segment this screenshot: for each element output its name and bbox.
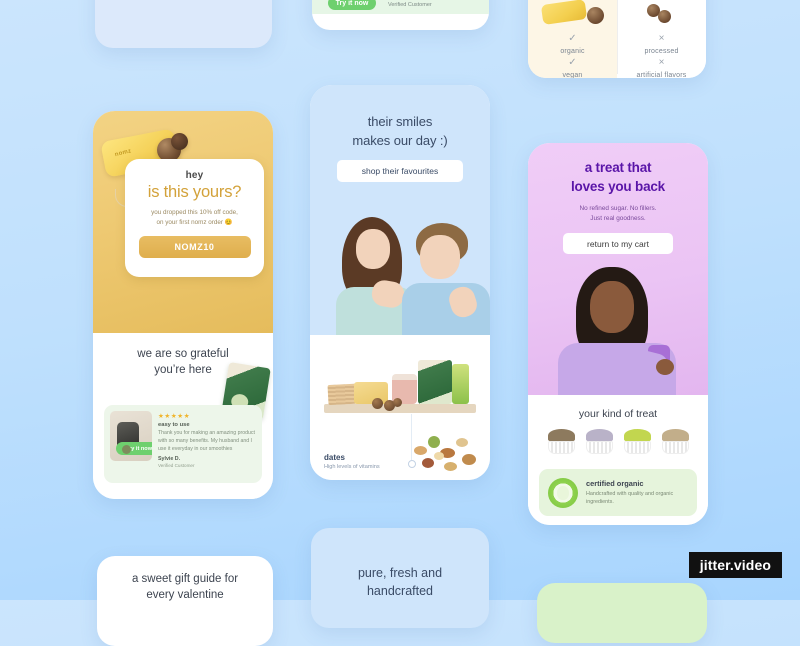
coupon-subtext: you dropped this 10% off code, on your f… [135, 208, 254, 228]
cross-icon: × [617, 34, 706, 44]
promo-code-button[interactable]: NOMZ10 [139, 236, 251, 258]
review-thumbnail: Try it now [110, 411, 152, 461]
cart-lower: your kind of treat [528, 395, 708, 525]
woman-face [590, 281, 634, 333]
cart-hero: a treat that loves you back No refined s… [528, 143, 708, 395]
treat-base-4 [662, 441, 689, 454]
review-card[interactable]: Try it now ★★★★★ easy to use Thank you f… [104, 405, 262, 483]
treat-cup-2[interactable] [586, 429, 613, 454]
card-green-teaser[interactable] [537, 583, 707, 643]
woman-hand [656, 359, 674, 375]
processed-snack-image [645, 4, 679, 26]
ingredient-subtitle: High levels of vitamins [324, 464, 380, 470]
card-kids[interactable]: their smiles makes our day :) shop their… [310, 85, 490, 480]
review-heading: easy to use [158, 422, 256, 428]
check-circle-icon-2: ✓ [528, 58, 617, 68]
shop-favourites-button[interactable]: shop their favourites [337, 160, 463, 182]
review-author: Sylvie D. [158, 456, 256, 462]
product-bar-image [542, 0, 604, 24]
coupon-lower: we are so grateful you’re here Try it no… [93, 333, 273, 499]
kids-photo [310, 213, 490, 335]
treat-cup-3[interactable] [624, 429, 651, 454]
woman-photo [552, 267, 684, 395]
card-pure-fresh[interactable]: pure, fresh and handcrafted [311, 528, 489, 628]
card-cart-reminder[interactable]: a treat that loves you back No refined s… [528, 143, 708, 525]
treat-cup-4[interactable] [662, 429, 689, 454]
check-circle-icon: ✓ [528, 34, 617, 44]
truffle-cluster [372, 398, 402, 411]
gift-guide-title: a sweet gift guide for every valentine [97, 556, 273, 603]
card-comparison[interactable]: ✓ organic × processed ✓ vegan × artifici… [528, 0, 706, 78]
try-it-now-button-top[interactable]: Try it now [328, 0, 376, 10]
star-rating-icon: ★★★★★ [158, 412, 256, 420]
truffle-icon-large-2 [171, 133, 188, 150]
treat-base-2 [586, 441, 613, 454]
ingredient-title: dates [324, 453, 380, 462]
treat-base-3 [624, 441, 651, 454]
smoothie-glass-icon [452, 364, 469, 404]
treat-base-1 [548, 441, 575, 454]
review-verified-label: Verified Customer [158, 463, 256, 468]
compare-item-processed: × processed [617, 34, 706, 55]
return-to-cart-button[interactable]: return to my cart [563, 233, 673, 254]
organic-seal-icon [548, 478, 578, 508]
cross-icon-2: × [617, 58, 706, 68]
cart-subtext: No refined sugar. No fillers. Just real … [528, 204, 708, 225]
coupon-box: hey is this yours? you dropped this 10% … [125, 159, 264, 277]
snack-bar-icon [540, 0, 586, 25]
certified-organic-badge: certified organic Handcrafted with quali… [539, 469, 697, 516]
coupon-hero: nomz hey is this yours? you dropped this… [93, 111, 273, 333]
ingredient-caption: dates High levels of vitamins [324, 453, 380, 470]
treat-cups-row [528, 420, 708, 454]
card-review-teaser[interactable]: Try it now Verified Customer [312, 0, 489, 30]
product-pouch-icon-2 [418, 360, 452, 404]
card-gift-teaser[interactable]: new snack in her bag. Gift her Coconut B… [95, 0, 272, 48]
kids-hero: their smiles makes our day :) shop their… [310, 85, 490, 335]
kids-headline: their smiles makes our day :) [310, 85, 490, 151]
product-shelf-image [310, 341, 490, 435]
truffle-icon-small-2 [658, 10, 671, 23]
truffle-icon [587, 7, 604, 24]
badge-title: certified organic [586, 479, 688, 488]
verified-customer-label: Verified Customer [388, 2, 432, 8]
treat-cup-1[interactable] [548, 429, 575, 454]
compare-item-organic: ✓ organic [528, 34, 617, 55]
canvas: new snack in her bag. Gift her Coconut B… [0, 0, 800, 600]
cart-headline: a treat that loves you back [528, 143, 708, 197]
boy-body [402, 283, 490, 335]
girl-face [356, 229, 390, 269]
coupon-headline: is this yours? [135, 183, 254, 202]
nuts-image [410, 430, 482, 476]
card-coupon[interactable]: nomz hey is this yours? you dropped this… [93, 111, 273, 499]
boy-face [420, 235, 460, 279]
badge-subtitle: Handcrafted with quality and organic ing… [586, 490, 688, 507]
treat-title: your kind of treat [528, 408, 708, 420]
pure-fresh-title: pure, fresh and handcrafted [311, 528, 489, 600]
coupon-greeting: hey [135, 170, 254, 181]
boy-figure [402, 217, 490, 335]
jitter-watermark: jitter.video [689, 552, 782, 578]
review-body: Thank you for making an amazing product … [158, 430, 256, 453]
compare-item-artificial-flavors: × artificial flavors [617, 58, 706, 78]
try-it-now-button[interactable]: Try it now [116, 442, 152, 455]
card-gift-guide[interactable]: a sweet gift guide for every valentine [97, 556, 273, 646]
kids-lower: dates High levels of vitamins [310, 335, 490, 480]
compare-item-vegan: ✓ vegan [528, 58, 617, 78]
